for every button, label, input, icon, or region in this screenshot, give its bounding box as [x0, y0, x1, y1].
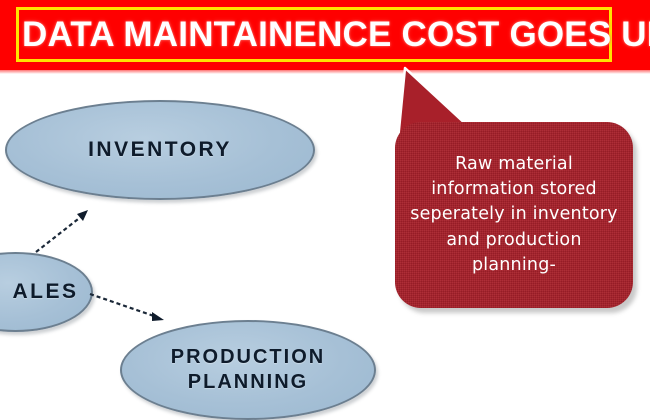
node-sales-label: ALES	[12, 279, 78, 305]
callout-bubble[interactable]: Raw material information stored seperate…	[395, 122, 633, 308]
node-production[interactable]: PRODUCTION PLANNING	[120, 320, 376, 420]
arrow-sales-to-inventory-icon	[30, 200, 100, 260]
node-inventory-label: INVENTORY	[88, 137, 232, 163]
arrow-sales-to-production-icon	[88, 288, 178, 333]
node-inventory[interactable]: INVENTORY	[5, 100, 315, 200]
page-title: DATA MAINTAINENCE COST GOES UP	[22, 9, 610, 61]
title-banner: DATA MAINTAINENCE COST GOES UP	[0, 0, 650, 70]
callout-text: Raw material information stored seperate…	[398, 152, 630, 279]
node-sales[interactable]: ALES	[0, 252, 93, 332]
node-production-label: PRODUCTION PLANNING	[171, 345, 325, 395]
